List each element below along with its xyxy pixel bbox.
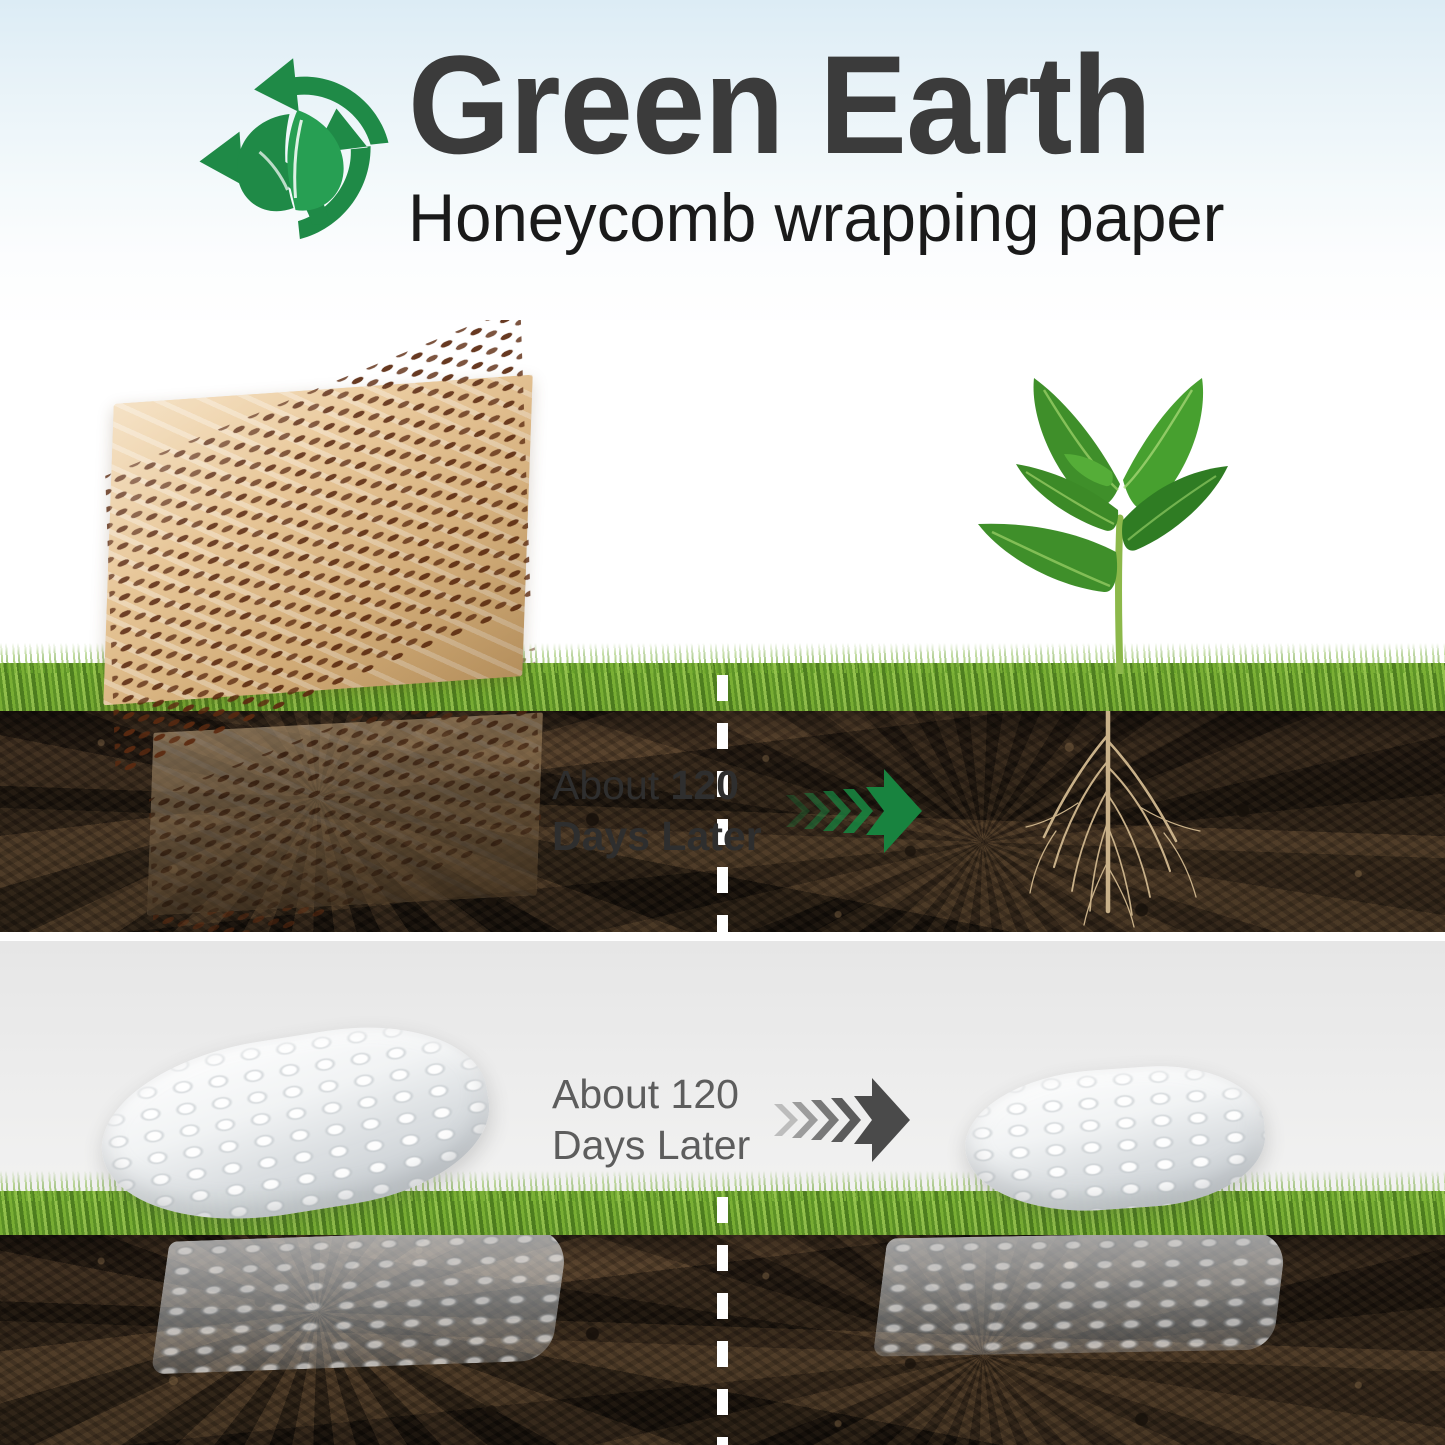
- callout-bottom: About 120 Days Later: [552, 1069, 912, 1171]
- buried-plastic-sheet-left: [151, 1228, 569, 1375]
- page-title: Green Earth: [408, 35, 1151, 175]
- infographic-page: Green Earth Honeycomb wrapping paper: [0, 0, 1445, 1445]
- buried-honeycomb-remnant: [147, 713, 543, 916]
- honeycomb-paper-sheet: [103, 375, 533, 706]
- callout-text-bottom: About 120 Days Later: [552, 1069, 750, 1171]
- callout-line2: Days Later: [552, 1120, 750, 1171]
- callout-prefix: About: [552, 1071, 671, 1117]
- bubble-wrap-panel: About 120 Days Later: [0, 941, 1445, 1445]
- callout-prefix: About: [552, 762, 671, 808]
- seedling-roots: [1000, 711, 1300, 937]
- page-subtitle: Honeycomb wrapping paper: [408, 181, 1224, 256]
- green-seedling: [960, 364, 1290, 674]
- buried-plastic-sheet-right: [873, 1231, 1287, 1356]
- vertical-dashed-divider: [717, 1197, 728, 1445]
- callout-days-value: 120: [671, 1071, 739, 1117]
- callout-days-value: 120: [671, 762, 739, 808]
- honeycomb-paper-panel: About 120 Days Later: [0, 320, 1445, 937]
- callout-top: About 120 Days Later: [552, 760, 924, 862]
- header-banner: Green Earth Honeycomb wrapping paper: [0, 0, 1445, 340]
- recycle-leaves-icon: [187, 48, 402, 248]
- arrow-right-chevrons-icon: [772, 1074, 912, 1166]
- callout-line2: Days Later: [552, 811, 762, 862]
- ground-layer-bottom: [0, 1191, 1445, 1445]
- callout-text-top: About 120 Days Later: [552, 760, 762, 862]
- arrow-right-chevrons-icon: [784, 765, 924, 857]
